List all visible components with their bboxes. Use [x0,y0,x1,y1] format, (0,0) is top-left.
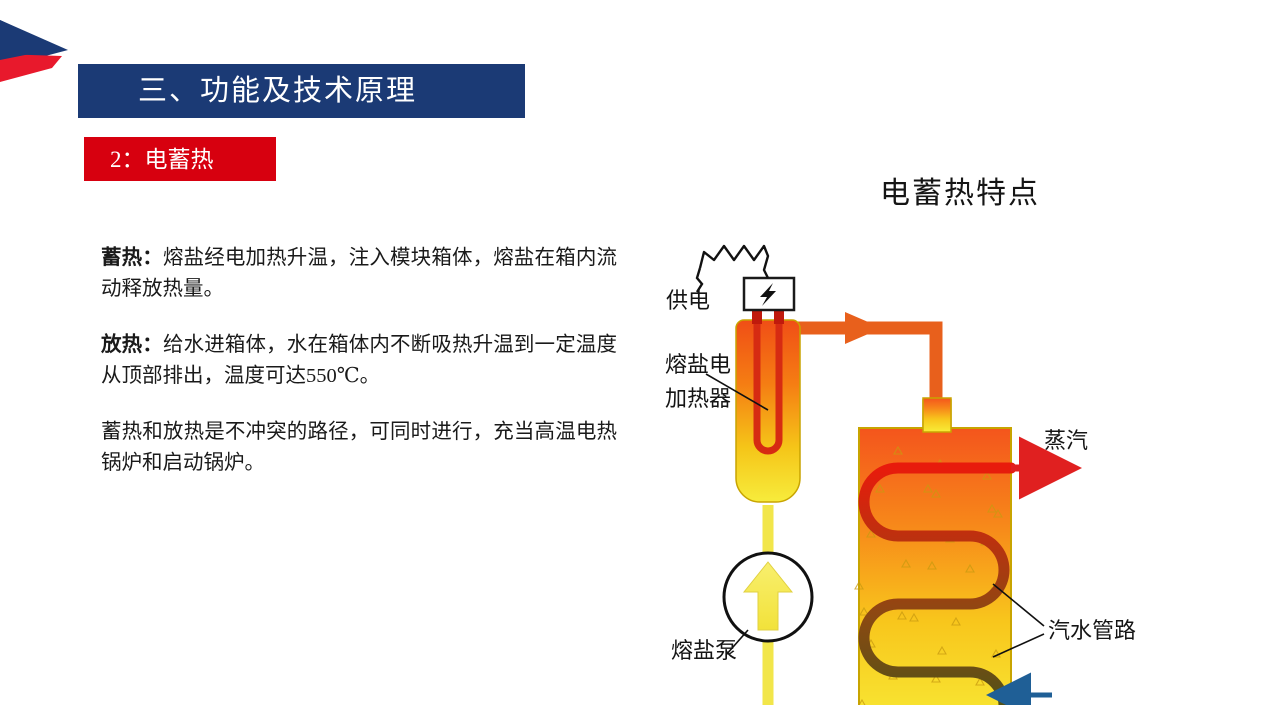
molten-salt-electric-heater [736,308,800,502]
paragraph-storage-body: 熔盐经电加热升温，注入模块箱体，熔盐在箱内流动释放热量。 [101,247,617,300]
label-steam-water-pipe: 汽水管路 [1048,618,1136,643]
paragraph-storage: 蓄热：熔盐经电加热升温，注入模块箱体，熔盐在箱内流动释放热量。 [101,243,617,305]
label-heater-line1: 熔盐电 [665,352,731,377]
slide-root: 三、功能及技术原理 2：电蓄热 蓄热：熔盐经电加热升温，注入模块箱体，熔盐在箱内… [0,0,1280,720]
decorative-corner-mark [0,20,72,96]
paragraph-release: 放热：给水进箱体，水在箱体内不断吸热升温到一定温度从顶部排出，温度可达550℃。 [101,330,617,392]
paragraph-release-lead: 放热： [101,334,163,356]
label-heater-line2: 加热器 [665,386,731,411]
hot-salt-flow-arrow-icon [845,312,882,344]
label-molten-salt-pump: 熔盐泵 [671,638,737,663]
sub-section-badge: 2：电蓄热 [84,137,276,181]
corner-red-shape-icon [0,54,62,82]
thermal-storage-diagram: 电蓄热特点 [640,160,1280,705]
sub-section-text: 2：电蓄热 [84,148,214,171]
molten-salt-pump [724,553,812,655]
section-title-bar: 三、功能及技术原理 [78,64,525,118]
label-steam: 蒸汽 [1044,428,1088,453]
paragraph-summary-body: 蓄热和放热是不冲突的路径，可同时进行，充当高温电热锅炉和启动锅炉。 [101,421,617,474]
diagram-svg: 供电 熔盐电 加热器 熔盐泵 蒸汽 汽水管路 给水 电蓄热单元 [640,160,1280,705]
paragraph-summary: 蓄热和放热是不冲突的路径，可同时进行，充当高温电热锅炉和启动锅炉。 [101,417,617,479]
paragraph-storage-lead: 蓄热： [101,247,163,269]
paragraph-release-body: 给水进箱体，水在箱体内不断吸热升温到一定温度从顶部排出，温度可达550℃。 [101,334,617,387]
body-text-block: 蓄热：熔盐经电加热升温，注入模块箱体，熔盐在箱内流动释放热量。 放热：给水进箱体… [101,243,617,479]
electric-supply-box [744,278,794,310]
section-title-text: 三、功能及技术原理 [78,77,417,106]
label-power-supply: 供电 [666,288,710,313]
heat-storage-tank [840,398,1011,705]
